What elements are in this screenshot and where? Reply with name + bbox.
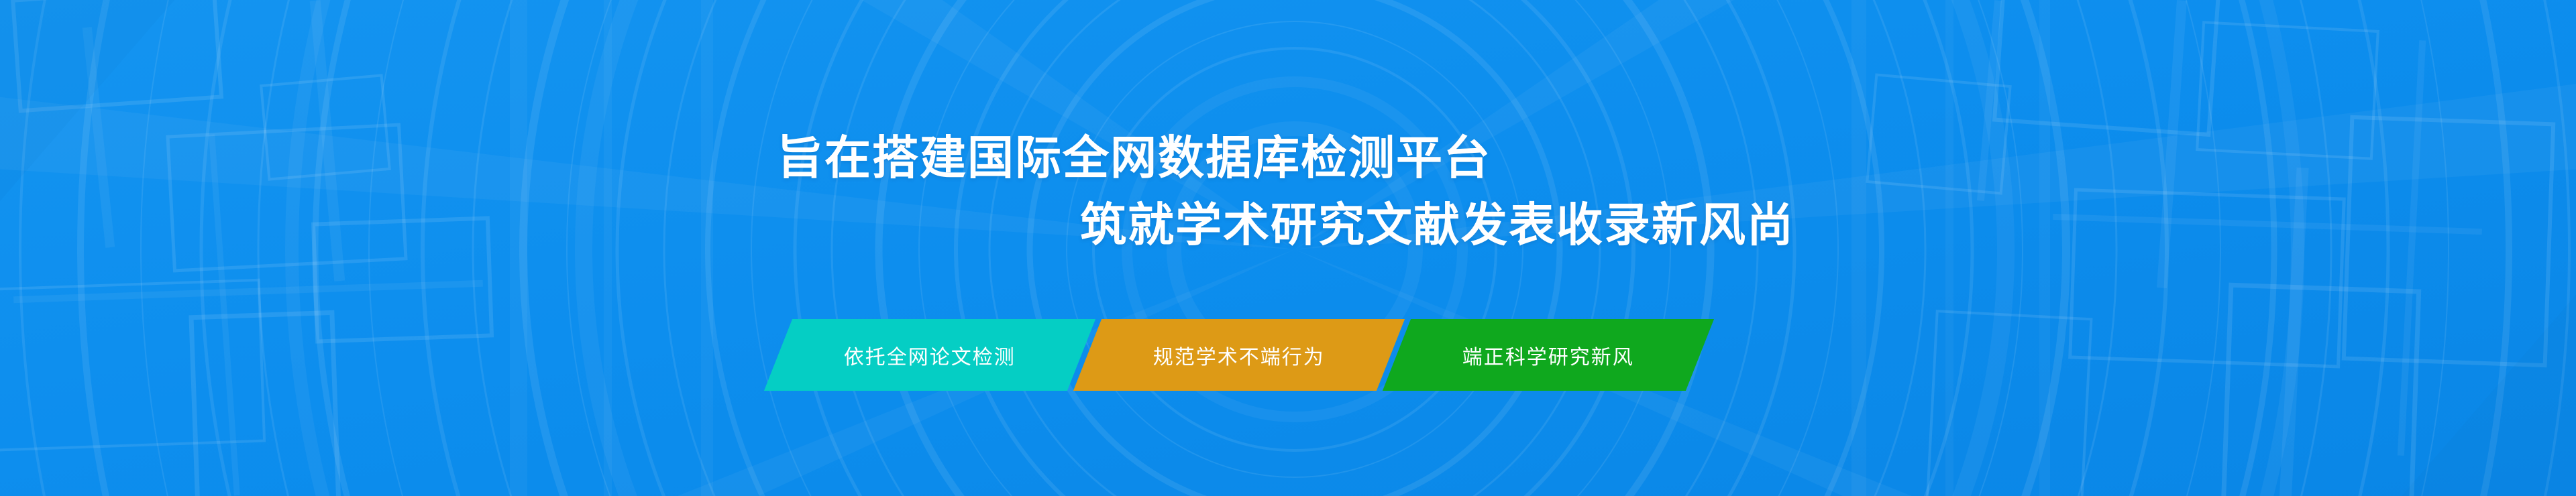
- feature-tag-research-ethos[interactable]: 端正科学研究新风: [1383, 319, 1714, 391]
- feature-tag-label: 依托全网论文检测: [844, 340, 1016, 370]
- feature-tag-misconduct[interactable]: 规范学术不端行为: [1073, 319, 1405, 391]
- feature-tag-paper-detection[interactable]: 依托全网论文检测: [764, 319, 1095, 391]
- feature-tag-strip: 依托全网论文检测 规范学术不端行为 端正科学研究新风: [778, 319, 1700, 391]
- headline-block: 旨在搭建国际全网数据库检测平台 筑就学术研究文献发表收录新风尚: [0, 125, 2576, 259]
- promo-banner: 旨在搭建国际全网数据库检测平台 筑就学术研究文献发表收录新风尚 依托全网论文检测…: [0, 0, 2576, 496]
- feature-tag-label: 端正科学研究新风: [1462, 340, 1634, 370]
- headline-line-2: 筑就学术研究文献发表收录新风尚: [0, 192, 2576, 259]
- headline-line-1: 旨在搭建国际全网数据库检测平台: [0, 125, 2576, 192]
- feature-tag-label: 规范学术不端行为: [1153, 340, 1325, 370]
